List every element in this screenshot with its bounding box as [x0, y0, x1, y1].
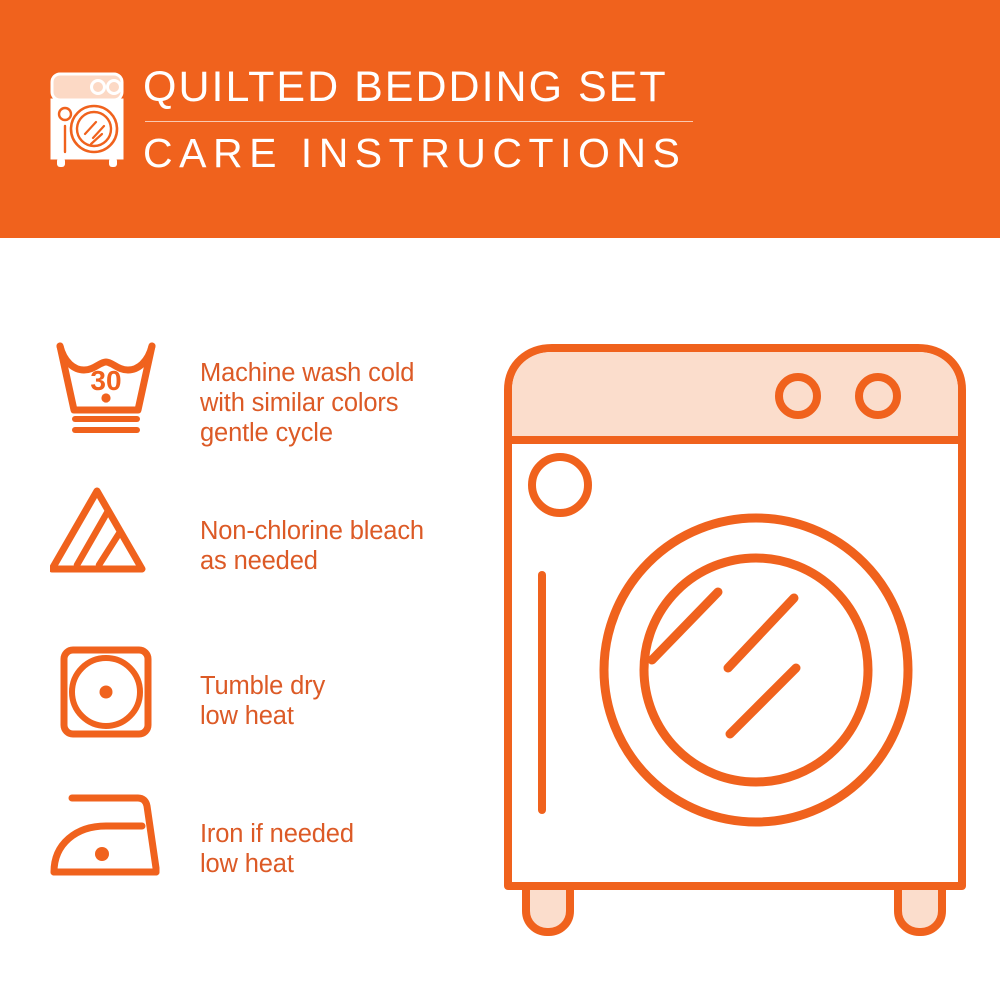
care-item-label: Non-chlorine bleach as needed [200, 516, 424, 576]
control-panel [512, 352, 958, 438]
care-item-machine-wash: 30 Machine wash cold with similar colors… [0, 336, 470, 456]
care-item-label: Iron if needed low heat [200, 819, 354, 879]
care-item-label: Machine wash cold with similar colors ge… [200, 358, 414, 448]
care-item-tumble-dry: Tumble dry low heat [0, 638, 470, 758]
care-item-iron: Iron if needed low heat [0, 786, 470, 906]
iron-low-heat-icon [50, 786, 162, 890]
header-banner: QUILTED BEDDING SET CARE INSTRUCTIONS [0, 0, 1000, 238]
page-subtitle: CARE INSTRUCTIONS [143, 129, 743, 177]
washing-machine-illustration [490, 330, 990, 950]
tumble-dry-square-icon [50, 638, 162, 742]
washing-machine-icon [44, 68, 136, 172]
svg-text:30: 30 [90, 365, 121, 396]
care-item-label: Tumble dry low heat [200, 671, 325, 731]
header-title-block: QUILTED BEDDING SET CARE INSTRUCTIONS [143, 62, 743, 177]
care-instruction-list: 30 Machine wash cold with similar colors… [0, 238, 470, 1000]
page-title: QUILTED BEDDING SET [143, 62, 743, 112]
title-divider [145, 121, 693, 122]
wash-tub-30-icon: 30 [50, 336, 162, 440]
care-item-bleach: Non-chlorine bleach as needed [0, 483, 470, 603]
bleach-triangle-icon [50, 483, 162, 587]
